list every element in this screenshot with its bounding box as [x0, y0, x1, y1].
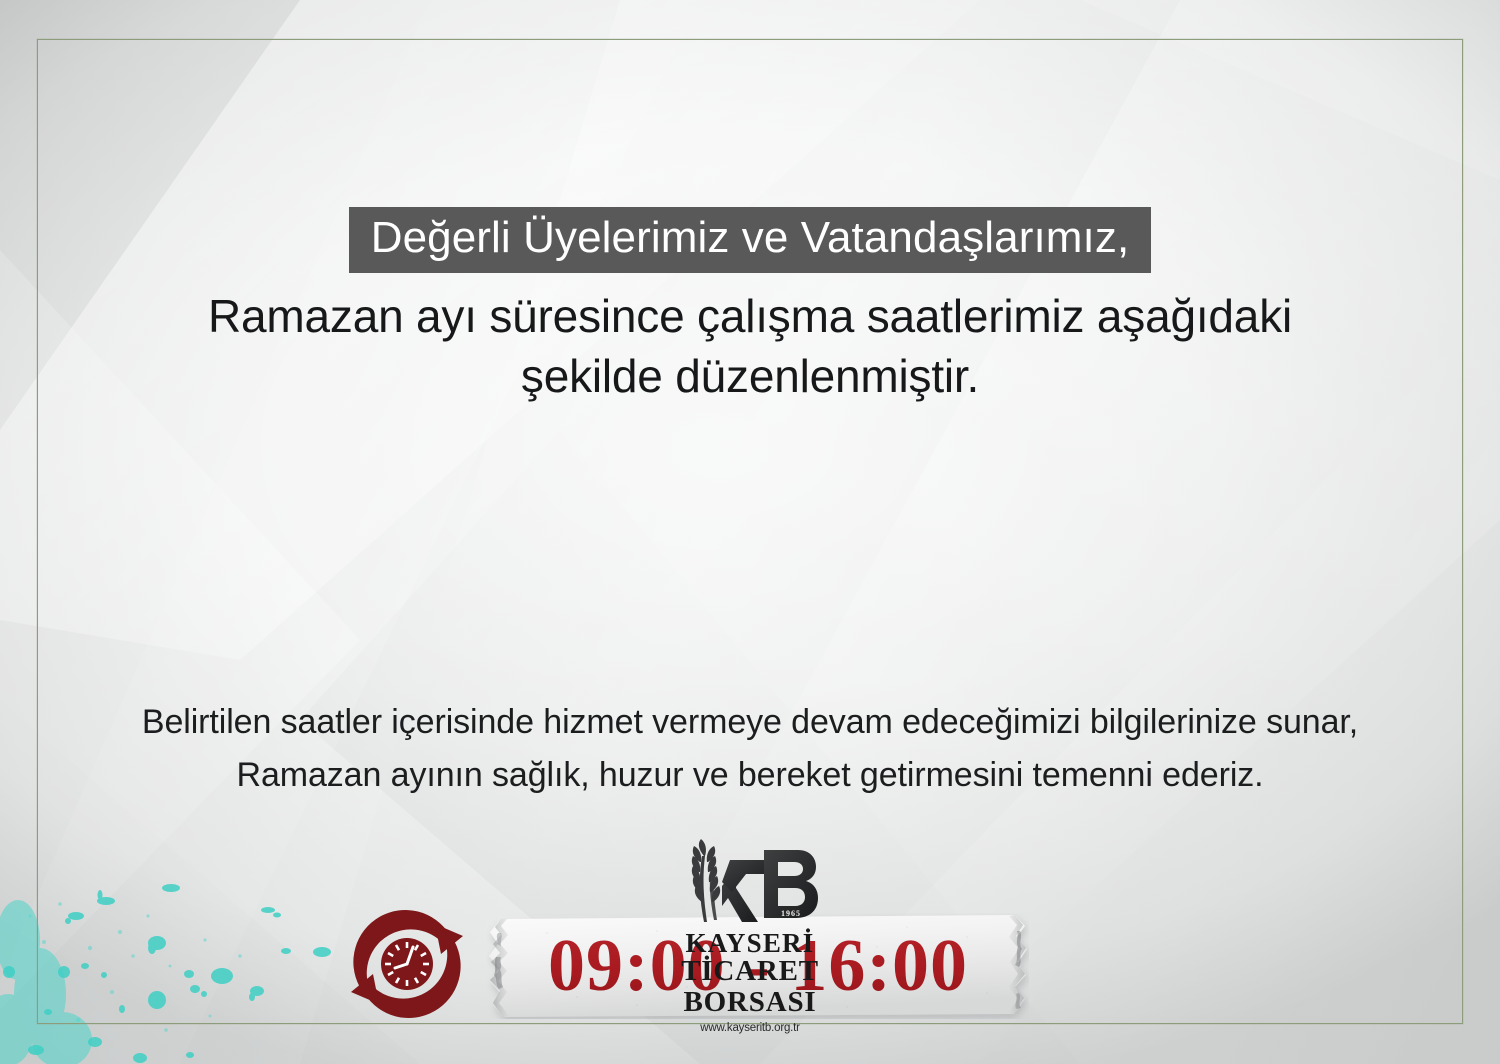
- logo-name-line-2: TİCARET BORSASI: [625, 956, 875, 1017]
- poster-content: Değerli Üyelerimiz ve Vatandaşlarımız, R…: [0, 0, 1500, 1064]
- heading-block: Değerli Üyelerimiz ve Vatandaşlarımız, R…: [0, 207, 1500, 407]
- logo-name-line-1: KAYSERİ: [625, 929, 875, 957]
- intro-line-2: şekilde düzenlenmiştir.: [175, 347, 1325, 407]
- logo-website-url: www.kayseritb.org.tr: [625, 1022, 875, 1034]
- kb-monogram-icon: 1965: [670, 836, 830, 928]
- salutation-wrapper: Değerli Üyelerimiz ve Vatandaşlarımız,: [0, 207, 1500, 273]
- closing-paragraph: Belirtilen saatler içerisinde hizmet ver…: [0, 696, 1500, 801]
- intro-line-1: Ramazan ayı süresince çalışma saatlerimi…: [175, 287, 1325, 347]
- announcement-poster: Değerli Üyelerimiz ve Vatandaşlarımız, R…: [0, 0, 1500, 1064]
- closing-line-1: Belirtilen saatler içerisinde hizmet ver…: [0, 696, 1500, 749]
- intro-paragraph: Ramazan ayı süresince çalışma saatlerimi…: [175, 287, 1325, 407]
- salutation-highlight: Değerli Üyelerimiz ve Vatandaşlarımız,: [349, 207, 1152, 273]
- working-hours-row: 09:00 - 16:00: [0, 450, 1500, 590]
- closing-line-2: Ramazan ayının sağlık, huzur ve bereket …: [0, 749, 1500, 802]
- clock-cycle-icon: [345, 902, 469, 1026]
- organization-logo: 1965 KAYSERİ TİCARET BORSASI www.kayseri…: [625, 836, 875, 1034]
- svg-text:1965: 1965: [781, 909, 801, 918]
